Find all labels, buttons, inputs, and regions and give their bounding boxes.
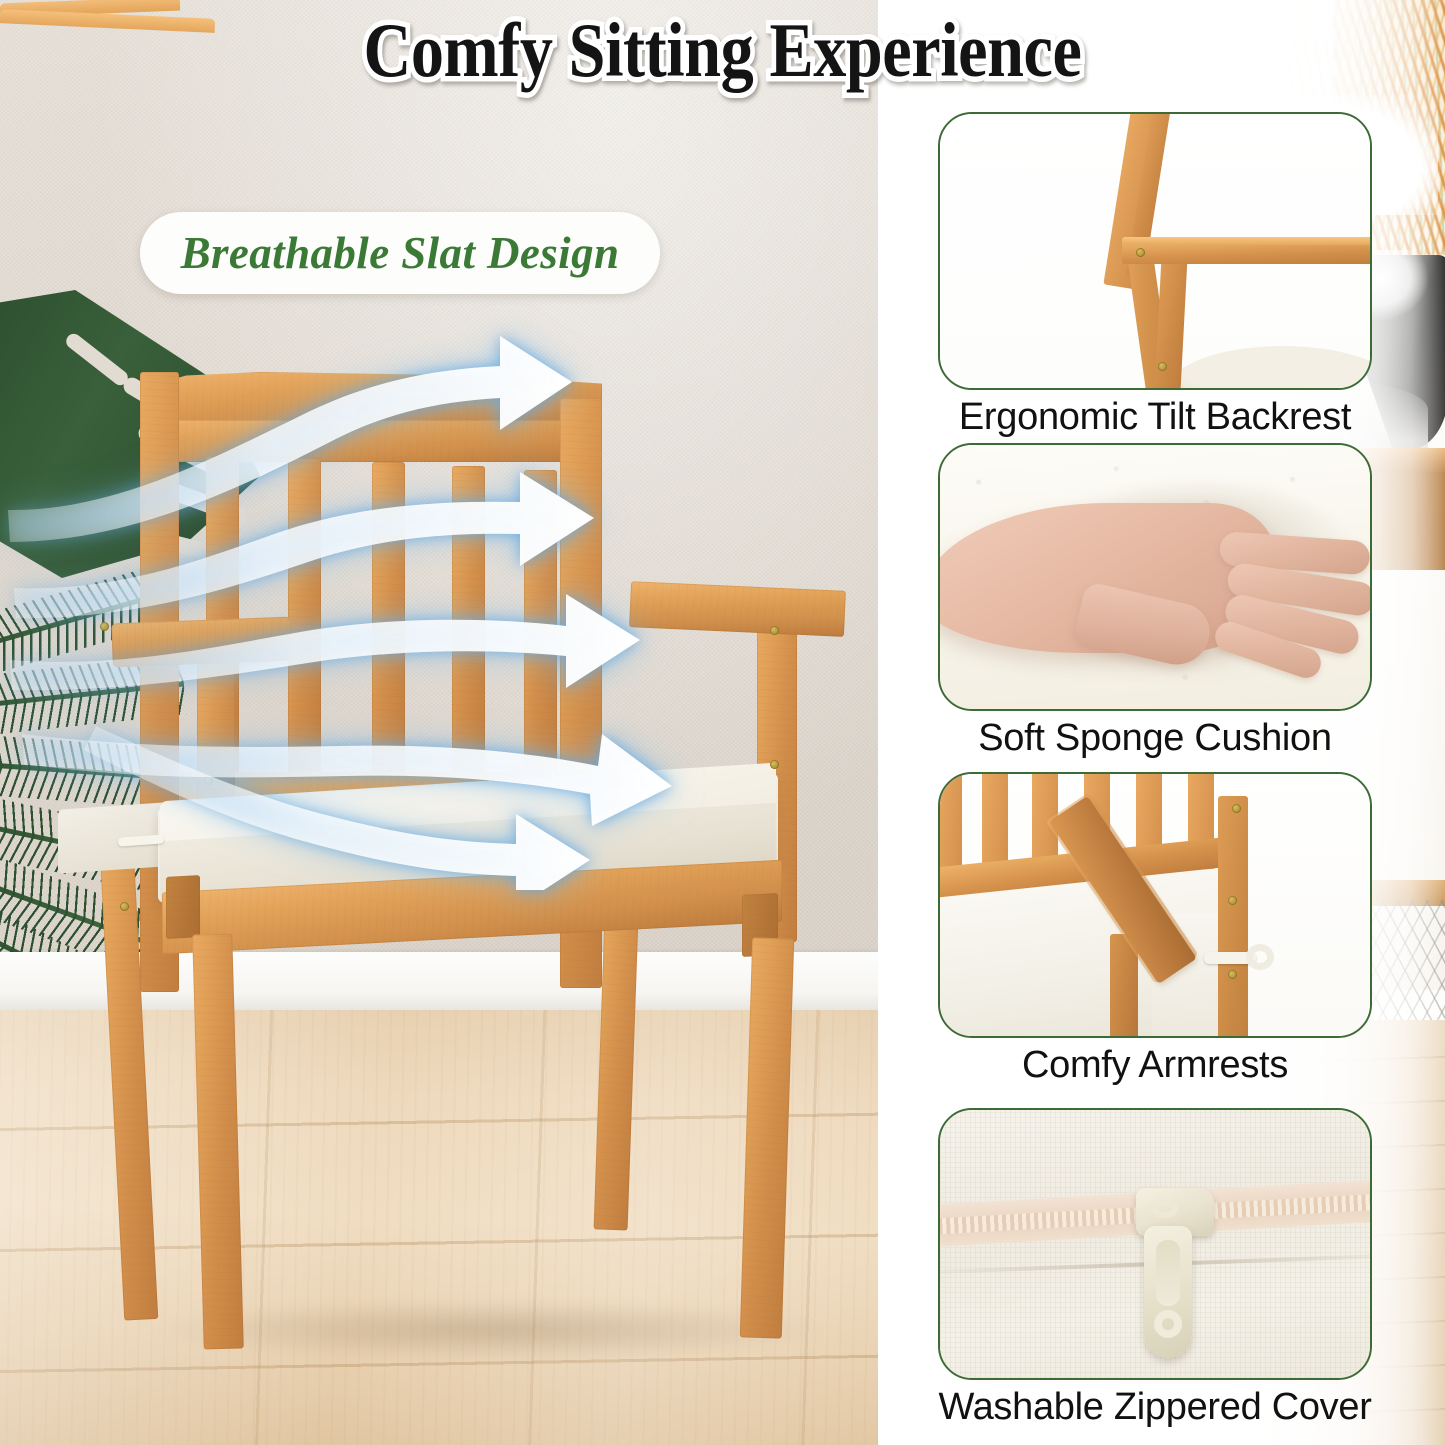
feature-card-image-frame	[938, 1108, 1372, 1380]
zipper-pull-slot	[1156, 1240, 1180, 1306]
chair-rear-post	[1218, 796, 1248, 1038]
feature-card-washable-zippered-cover[interactable]: Washable Zippered Cover	[938, 1108, 1372, 1429]
brass-screw	[1158, 362, 1167, 371]
infographic-canvas: 75 THE KINFOLK BOOK	[0, 0, 1445, 1445]
airflow-arrows-group	[0, 330, 878, 890]
chair-front-leg-left	[192, 934, 244, 1350]
feature-card-column: Ergonomic Tilt Backrest Soft Sponge Cush…	[938, 0, 1378, 1445]
brass-screw	[1228, 970, 1237, 979]
feature-card-caption: Ergonomic Tilt Backrest	[938, 396, 1372, 439]
feature-card-ergonomic-tilt-backrest[interactable]: Ergonomic Tilt Backrest	[938, 112, 1372, 439]
brass-screw	[120, 902, 129, 911]
airflow-arrow-2	[14, 472, 594, 618]
feature-card-comfy-armrests[interactable]: Comfy Armrests	[938, 772, 1372, 1087]
zipper-slider-eye	[1152, 1200, 1178, 1218]
armrest-rail	[1122, 242, 1372, 264]
feature-card-image-frame	[938, 112, 1372, 390]
armrest-rail-top	[1122, 237, 1372, 245]
feature-card-soft-sponge-cushion[interactable]: Soft Sponge Cushion	[938, 443, 1372, 760]
feature-card-caption: Washable Zippered Cover	[938, 1386, 1372, 1429]
brass-screw	[1136, 248, 1145, 257]
hero-product-photo: Breathable Slat Design	[0, 0, 878, 1445]
feature-card-image-frame	[938, 443, 1372, 711]
brass-screw	[1228, 896, 1237, 905]
feature-card-caption: Soft Sponge Cushion	[938, 717, 1372, 760]
brass-screw	[1232, 804, 1241, 813]
feature-card-caption: Comfy Armrests	[938, 1044, 1372, 1087]
chair-front-leg-right	[740, 937, 795, 1338]
badge-label: Breathable Slat Design	[181, 227, 620, 279]
cushion-tie-loop	[1246, 944, 1274, 970]
feature-card-image-frame	[938, 772, 1372, 1038]
zipper-pull-ring	[1154, 1310, 1182, 1338]
breathable-slat-design-badge: Breathable Slat Design	[140, 212, 660, 294]
